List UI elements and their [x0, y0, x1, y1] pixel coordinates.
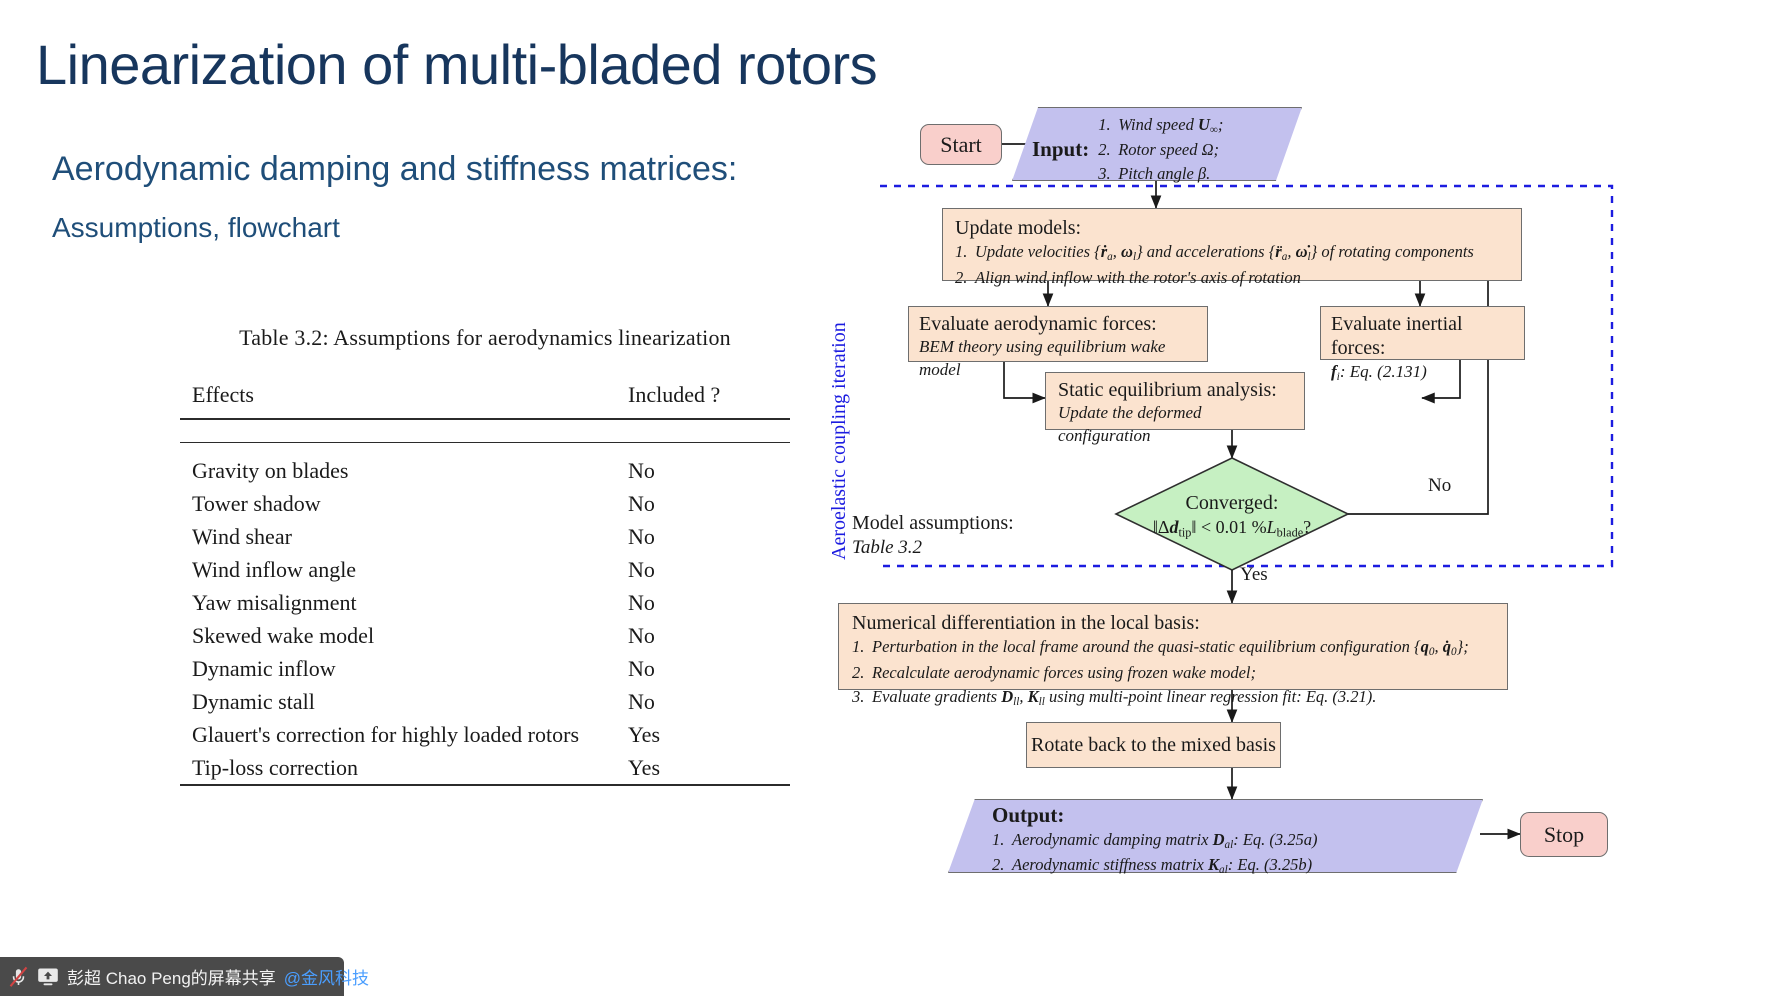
converged-line2: ‖Δdtip‖ < 0.01 %Lblade?	[1116, 516, 1348, 541]
numerical-differentiation-heading: Numerical differentiation in the local b…	[852, 611, 1494, 635]
table-top-rule	[180, 419, 790, 443]
cell-effect: Yaw misalignment	[180, 586, 622, 619]
inertial-forces-sub: fi: Eq. (2.131)	[1331, 361, 1514, 385]
column-header-effects: Effects	[180, 373, 622, 419]
column-header-included: Included ?	[622, 373, 790, 419]
output-content: Output: 1.Aerodynamic damping matrix Dal…	[992, 803, 1482, 879]
output-items: 1.Aerodynamic damping matrix Dal: Eq. (3…	[992, 828, 1482, 879]
page-title: Linearization of multi-bladed rotors	[36, 36, 877, 95]
numerical-differentiation-item: 3.Evaluate gradients Dll, Kll using mult…	[852, 685, 1494, 710]
aeroelastic-loop-label: Aeroelastic coupling iteration	[828, 322, 851, 560]
mic-muted-icon[interactable]	[8, 966, 29, 988]
cell-effect: Wind shear	[180, 520, 622, 553]
update-models-item: 1.Update velocities {ṙa, ωl} and acceler…	[955, 240, 1509, 265]
cell-included: No	[622, 619, 790, 652]
cell-included: No	[622, 553, 790, 586]
inertial-forces-heading: Evaluate inertial forces:	[1331, 312, 1514, 361]
cell-included: No	[622, 652, 790, 685]
cell-effect: Tower shadow	[180, 487, 622, 520]
input-item: 3.Pitch angle β.	[1098, 162, 1223, 186]
edge-label-yes: Yes	[1240, 564, 1268, 586]
update-models-node[interactable]: Update models: 1.Update velocities {ṙa, …	[942, 208, 1522, 281]
linearization-flowchart: Start Input: 1.Wind speed U∞; 2.Rotor sp…	[880, 100, 1740, 890]
table-bottom-rule	[180, 785, 790, 797]
input-item: 1.Wind speed U∞;	[1098, 113, 1223, 138]
cell-included: No	[622, 520, 790, 553]
input-content: Input: 1.Wind speed U∞; 2.Rotor speed Ω;…	[1032, 112, 1302, 186]
cell-effect: Skewed wake model	[180, 619, 622, 652]
cell-effect: Wind inflow angle	[180, 553, 622, 586]
cell-effect: Dynamic inflow	[180, 652, 622, 685]
screenshare-taskbar[interactable]: 彭超 Chao Peng的屏幕共享 @金风科技	[0, 957, 344, 996]
output-item: 2.Aerodynamic stiffness matrix Kal: Eq. …	[992, 853, 1482, 878]
slide-subtitle-primary: Aerodynamic damping and stiffness matric…	[52, 150, 737, 189]
table-row: Glauert's correction for highly loaded r…	[180, 718, 790, 751]
cell-included: No	[622, 586, 790, 619]
cell-effect: Glauert's correction for highly loaded r…	[180, 718, 622, 751]
numerical-differentiation-item: 1.Perturbation in the local frame around…	[852, 635, 1494, 660]
table-row: Yaw misalignment No	[180, 586, 790, 619]
table-row: Tower shadow No	[180, 487, 790, 520]
table-row: Gravity on blades No	[180, 454, 790, 487]
table-row: Dynamic stall No	[180, 685, 790, 718]
update-models-item: 2.Align wind inflow with the rotor's axi…	[955, 266, 1509, 290]
cell-effect: Tip-loss correction	[180, 751, 622, 785]
numerical-differentiation-item: 2.Recalculate aerodynamic forces using f…	[852, 661, 1494, 685]
presentation-slide: Linearization of multi-bladed rotors Aer…	[0, 0, 1768, 996]
cell-effect: Gravity on blades	[180, 454, 622, 487]
screenshare-org-tag: @金风科技	[284, 964, 369, 989]
converged-line1: Converged:	[1116, 490, 1348, 516]
model-assumptions-note: Model assumptions: Table 3.2	[852, 510, 1014, 561]
screenshare-title: 彭超 Chao Peng的屏幕共享	[67, 964, 276, 989]
cell-included: Yes	[622, 718, 790, 751]
edge-label-no: No	[1428, 475, 1451, 497]
static-equilibrium-node[interactable]: Static equilibrium analysis: Update the …	[1045, 372, 1305, 430]
update-models-heading: Update models:	[955, 216, 1509, 240]
screen-share-icon[interactable]	[37, 967, 59, 986]
static-equilibrium-heading: Static equilibrium analysis:	[1058, 378, 1292, 402]
table-row: Dynamic inflow No	[180, 652, 790, 685]
input-item: 2.Rotor speed Ω;	[1098, 138, 1223, 162]
aerodynamic-forces-heading: Evaluate aerodynamic forces:	[919, 312, 1197, 336]
numerical-differentiation-items: 1.Perturbation in the local frame around…	[852, 635, 1494, 710]
assumptions-table: Effects Included ? Gravity on blades No …	[180, 373, 790, 797]
assumptions-table-block: Table 3.2: Assumptions for aerodynamics …	[180, 325, 790, 797]
output-heading: Output:	[992, 803, 1482, 828]
slide-subtitle-secondary: Assumptions, flowchart	[52, 212, 340, 244]
numerical-differentiation-node[interactable]: Numerical differentiation in the local b…	[838, 603, 1508, 690]
table-mid-rule	[180, 443, 790, 455]
update-models-items: 1.Update velocities {ṙa, ωl} and acceler…	[955, 240, 1509, 289]
table-row: Skewed wake model No	[180, 619, 790, 652]
aerodynamic-forces-node[interactable]: Evaluate aerodynamic forces: BEM theory …	[908, 306, 1208, 362]
model-assumptions-heading: Model assumptions:	[852, 510, 1014, 536]
rotate-back-label: Rotate back to the mixed basis	[1031, 733, 1276, 757]
cell-included: Yes	[622, 751, 790, 785]
output-item: 1.Aerodynamic damping matrix Dal: Eq. (3…	[992, 828, 1482, 853]
cell-effect: Dynamic stall	[180, 685, 622, 718]
table-row: Tip-loss correction Yes	[180, 751, 790, 785]
table-row: Wind inflow angle No	[180, 553, 790, 586]
model-assumptions-ref: Table 3.2	[852, 536, 1014, 561]
start-label: Start	[940, 132, 982, 158]
cell-included: No	[622, 487, 790, 520]
table-row: Wind shear No	[180, 520, 790, 553]
table-header-row: Effects Included ?	[180, 373, 790, 419]
converged-decision-text: Converged: ‖Δdtip‖ < 0.01 %Lblade?	[1116, 490, 1348, 541]
input-heading: Input:	[1032, 137, 1089, 162]
stop-terminator[interactable]: Stop	[1520, 812, 1608, 857]
stop-label: Stop	[1544, 822, 1584, 848]
rotate-back-node[interactable]: Rotate back to the mixed basis	[1026, 722, 1281, 768]
static-equilibrium-sub: Update the deformed configuration	[1058, 402, 1292, 448]
cell-included: No	[622, 685, 790, 718]
start-terminator[interactable]: Start	[920, 124, 1002, 165]
table-caption: Table 3.2: Assumptions for aerodynamics …	[180, 325, 790, 351]
cell-included: No	[622, 454, 790, 487]
inertial-forces-node[interactable]: Evaluate inertial forces: fi: Eq. (2.131…	[1320, 306, 1525, 360]
